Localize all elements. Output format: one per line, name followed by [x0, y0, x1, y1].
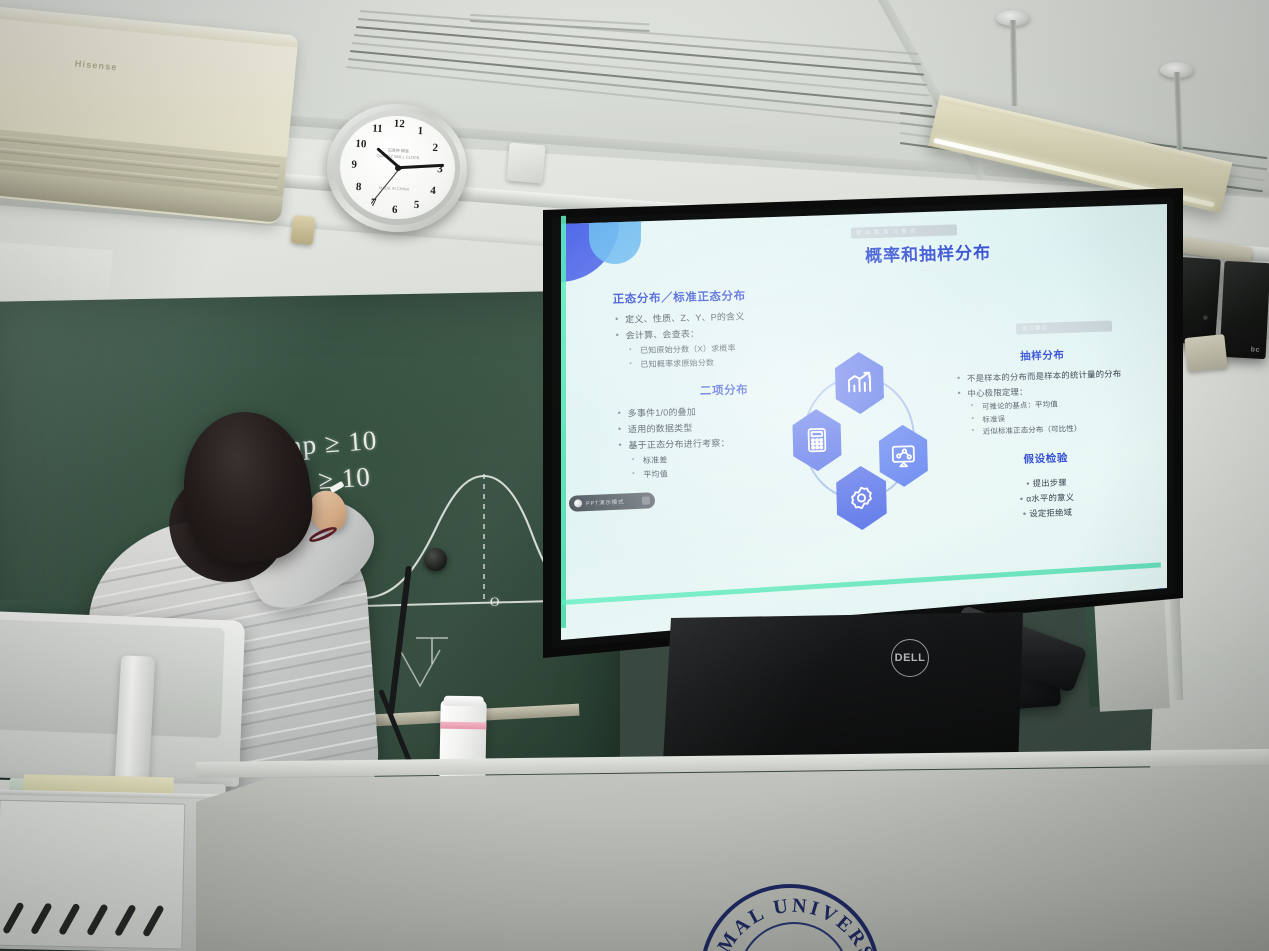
clock-numeral-8: 8 [351, 180, 366, 193]
clock-numeral-10: 10 [354, 137, 369, 150]
gear-icon [847, 484, 876, 513]
presentation-network-icon [889, 441, 918, 470]
clock-brand-line1: 石英钟 精准 [388, 147, 409, 153]
menu-icon[interactable] [642, 496, 650, 504]
speaker-brand-label: bc [1251, 346, 1261, 353]
clock-numeral-1: 1 [413, 125, 428, 138]
slide-presenter-badge[interactable]: PPT演示模式 [569, 492, 656, 512]
slide-title-chip: 第 四 章 复 习 要 点 [851, 224, 957, 238]
slide-bullet: 中心极限定理：可推论的基点：平均值标准误近似标准正态分布（可比性） [955, 381, 1133, 439]
clock-numeral-5: 5 [409, 199, 424, 212]
monitor-sheen [663, 612, 1023, 768]
slide-column-right: 抽样分布不是样本的分布而是样本的统计量的分布中心极限定理：可推论的基点：平均值标… [954, 345, 1136, 526]
chalk-stick [329, 481, 344, 493]
speaker-right: bc [1220, 261, 1269, 359]
slide-sub-bullets: 可推论的基点：平均值标准误近似标准正态分布（可比性） [968, 396, 1133, 439]
slide-heading-hypothesis: 假设检验 [958, 448, 1134, 469]
clock-numeral-12: 12 [392, 118, 407, 131]
screen-edge-light-left [561, 216, 566, 628]
slide-title-chip-label: 第 四 章 复 习 要 点 [856, 227, 917, 237]
slide-section-hypothesis: 假设检验提出步骤α水平的意义设定拒绝域 [958, 448, 1136, 523]
dell-logo-icon: DELL [891, 639, 929, 677]
slide-subtitle: ··· [861, 266, 991, 276]
bottle-band [440, 722, 486, 730]
slide-bullets-sampling: 不是样本的分布而是样本的统计量的分布中心极限定理：可推论的基点：平均值标准误近似… [955, 366, 1133, 439]
clock-numeral-4: 4 [426, 184, 441, 197]
chalk-axis-label-o: O [490, 594, 500, 610]
cabinet-door[interactable] [0, 800, 185, 950]
wall-junction-box [506, 143, 545, 184]
clock-numeral-9: 9 [347, 158, 362, 171]
wall-clock: 121234567891011 石英钟 精准 QUARTZ WALL CLOCK… [324, 100, 471, 235]
slide-bullets-hypothesis: 提出步骤α水平的意义设定拒绝域 [958, 473, 1135, 523]
white-monitor-screen [0, 619, 225, 738]
slide-section-sampling: 抽样分布不是样本的分布而是样本的统计量的分布中心极限定理：可推论的基点：平均值标… [954, 345, 1133, 439]
slide-hexagon-diagram [783, 350, 936, 532]
slide-heading-sampling: 抽样分布 [954, 345, 1130, 366]
microphone-head [424, 548, 447, 571]
classroom-photo: Hisense 121234567891011 石英钟 精准 QUARTZ WA… [0, 0, 1269, 951]
slide-title: 概率和抽样分布 [813, 237, 1044, 268]
slide-badge-label: PPT演示模式 [586, 497, 625, 507]
speaker-bracket-bottom [1184, 334, 1227, 372]
slide-side-chip: 复习要点 [1016, 320, 1112, 334]
play-icon[interactable] [574, 499, 582, 507]
slide-side-chip-label: 复习要点 [1022, 324, 1048, 333]
clock-second-hand [370, 166, 401, 204]
air-conditioner: Hisense [0, 6, 299, 225]
clock-numeral-6: 6 [387, 204, 402, 217]
clock-numeral-2: 2 [428, 141, 443, 154]
white-monitor-stem [115, 655, 156, 783]
calculator-icon [803, 426, 832, 455]
dell-logo-text: DELL [895, 652, 926, 664]
wall-knob [291, 215, 316, 245]
university-seal: NORMAL UNIVERSITY [700, 884, 880, 951]
dell-monitor[interactable]: DELL [663, 612, 1023, 768]
clock-center-pin [394, 164, 400, 170]
chart-growth-icon [845, 369, 874, 398]
equipment-cabinet[interactable] [0, 780, 226, 951]
presentation-slide[interactable]: 第 四 章 复 习 要 点 概率和抽样分布 ··· 复习要点 正态分布／标准正态… [561, 202, 1167, 640]
clock-numeral-11: 11 [370, 122, 385, 135]
slide-heading-normal: 正态分布／标准正态分布 [612, 285, 830, 307]
bottle-cap [444, 696, 484, 707]
